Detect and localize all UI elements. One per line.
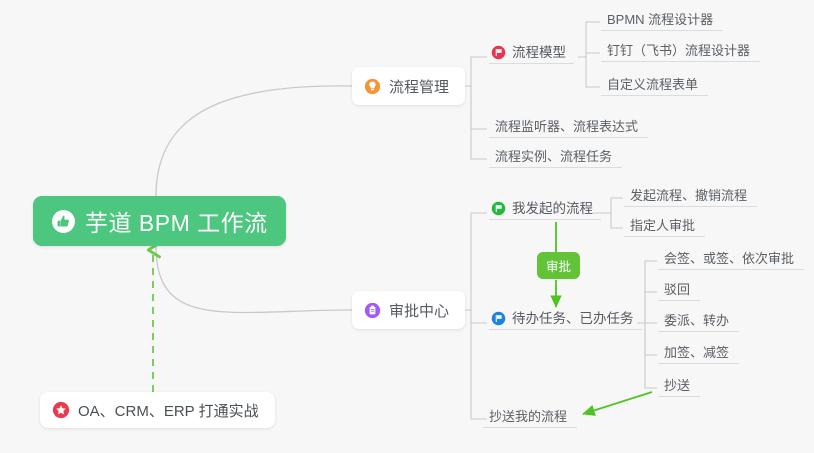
leaf-listener-expression[interactable]: 流程监听器、流程表达式	[489, 115, 648, 138]
flag-icon	[491, 311, 506, 326]
branch-label: 审批中心	[389, 300, 449, 321]
edge-pm-to-instance	[463, 86, 487, 159]
edge-todo-to-cc	[637, 323, 657, 388]
leaf-label: 自定义流程表单	[607, 78, 698, 91]
lightbulb-icon	[364, 78, 381, 95]
edge-root-to-process-management	[156, 86, 352, 196]
thumbs-up-icon	[51, 209, 76, 234]
approval-flow-tag-label: 审批	[546, 256, 571, 275]
leaf-label: 驳回	[664, 283, 690, 296]
edge-ac-to-cc-to-me	[463, 310, 487, 419]
arrow-cc-to-cc-to-me	[583, 392, 652, 414]
leaf-label: 加签、减签	[664, 346, 729, 359]
flag-icon	[491, 45, 506, 60]
node-todo-done-tasks[interactable]: 待办任务、已办任务	[489, 306, 642, 330]
star-icon	[52, 401, 70, 419]
leaf-label: 流程监听器、流程表达式	[495, 120, 638, 133]
leaf-custom-process-form[interactable]: 自定义流程表单	[601, 73, 708, 96]
note-label: OA、CRM、ERP 打通实战	[78, 400, 259, 421]
flag-icon	[491, 201, 506, 216]
approval-flow-tag: 审批	[537, 252, 580, 279]
edge-model-to-custom-form	[578, 57, 600, 87]
leaf-delegate-transfer[interactable]: 委派、转办	[658, 309, 739, 332]
leaf-bpmn-designer[interactable]: BPMN 流程设计器	[601, 8, 723, 31]
node-my-initiated[interactable]: 我发起的流程	[489, 196, 601, 220]
branch-label: 流程管理	[389, 76, 449, 97]
clipboard-icon	[364, 302, 381, 319]
node-process-model[interactable]: 流程模型	[489, 40, 574, 64]
leaf-start-cancel[interactable]: 发起流程、撤销流程	[624, 184, 757, 207]
edge-model-to-bpmn	[578, 22, 600, 57]
edge-model-to-dingtalk	[578, 53, 600, 57]
branch-approval-center[interactable]: 审批中心	[352, 291, 465, 329]
leaf-label: 抄送	[664, 379, 690, 392]
leaf-cc-to-me[interactable]: 抄送我的流程	[483, 405, 577, 428]
leaf-assignee-approval[interactable]: 指定人审批	[624, 214, 705, 237]
root-label: 芋道 BPM 工作流	[85, 204, 268, 238]
leaf-countersign[interactable]: 会签、或签、依次审批	[658, 247, 804, 270]
leaf-label: 发起流程、撤销流程	[630, 189, 747, 202]
leaf-dingtalk-feishu-designer[interactable]: 钉钉（飞书）流程设计器	[601, 39, 760, 62]
node-label: 我发起的流程	[512, 202, 593, 216]
edge-root-to-approval-center	[156, 246, 352, 313]
branch-process-management[interactable]: 流程管理	[352, 67, 465, 105]
leaf-label: BPMN 流程设计器	[607, 13, 713, 26]
node-label: 待办任务、已办任务	[512, 312, 634, 326]
leaf-reject[interactable]: 驳回	[658, 278, 700, 301]
leaf-instance-task[interactable]: 流程实例、流程任务	[489, 145, 622, 168]
edge-ac-to-todo-done	[463, 310, 487, 323]
leaf-label: 抄送我的流程	[489, 410, 567, 423]
mindmap-canvas: 芋道 BPM 工作流 流程管理 流程模型 BPMN 流程设计器 钉钉（飞书）流程…	[0, 0, 814, 453]
leaf-label: 会签、或签、依次审批	[664, 252, 794, 265]
root-node[interactable]: 芋道 BPM 工作流	[33, 196, 286, 246]
leaf-label: 指定人审批	[630, 219, 695, 232]
leaf-cc[interactable]: 抄送	[658, 374, 700, 397]
node-label: 流程模型	[512, 46, 566, 60]
edge-pm-to-process-model	[463, 57, 487, 86]
leaf-label: 流程实例、流程任务	[495, 150, 612, 163]
leaf-label: 钉钉（飞书）流程设计器	[607, 44, 750, 57]
edge-pm-to-listener	[463, 86, 487, 129]
leaf-add-remove-sign[interactable]: 加签、减签	[658, 341, 739, 364]
leaf-label: 委派、转办	[664, 314, 729, 327]
edge-ac-to-my-initiated	[463, 213, 487, 310]
note-integration[interactable]: OA、CRM、ERP 打通实战	[40, 392, 275, 428]
